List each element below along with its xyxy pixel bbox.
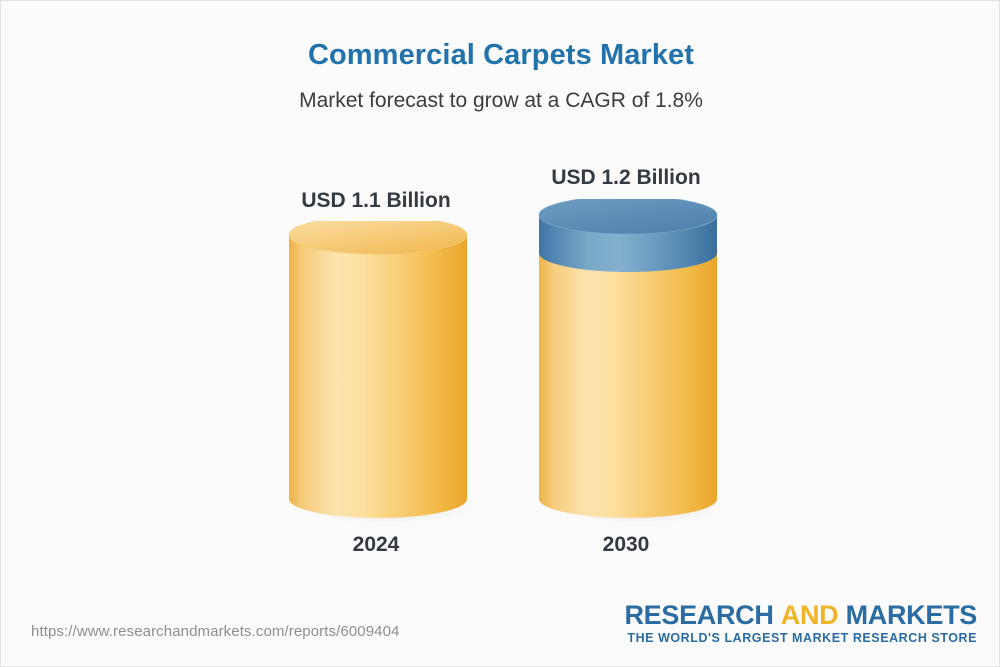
cylinder-body-base-2030	[539, 253, 717, 518]
research-and-markets-logo[interactable]: RESEARCH AND MARKETS THE WORLD'S LARGEST…	[624, 601, 977, 645]
cylinder-2030[interactable]	[533, 199, 723, 526]
report-url[interactable]: https://www.researchandmarkets.com/repor…	[31, 623, 400, 640]
logo-word-markets: MARKETS	[846, 600, 977, 630]
cylinder-body-2024	[289, 235, 467, 518]
logo-word-and: AND	[781, 600, 839, 630]
logo-wordmark: RESEARCH AND MARKETS	[624, 601, 977, 629]
bar-category-label-2030: 2030	[496, 533, 756, 557]
logo-word-research: RESEARCH	[624, 600, 773, 630]
bar-value-label-2030: USD 1.2 Billion	[496, 166, 756, 190]
logo-tagline: THE WORLD'S LARGEST MARKET RESEARCH STOR…	[624, 631, 977, 645]
chart-canvas: Commercial Carpets Market Market forecas…	[0, 0, 1000, 667]
cylinder-2024[interactable]	[283, 221, 473, 526]
plot-area: USD 1.1 Billion	[1, 1, 1000, 667]
bar-value-label-2024: USD 1.1 Billion	[246, 189, 506, 213]
bar-category-label-2024: 2024	[246, 533, 506, 557]
